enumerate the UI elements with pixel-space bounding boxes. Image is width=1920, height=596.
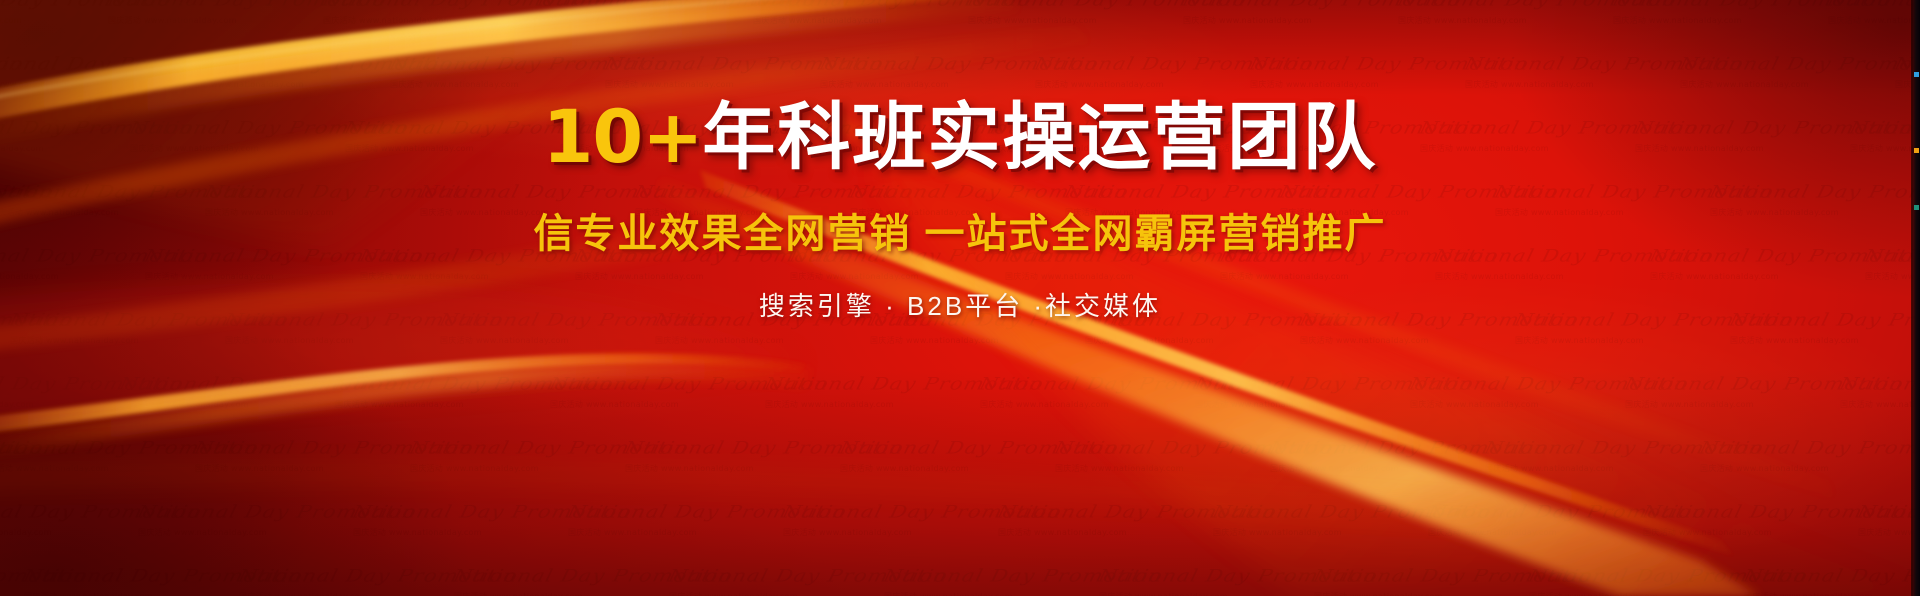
subtitle-secondary: 搜索引擎 · B2B平台 ·社交媒体 xyxy=(759,286,1161,323)
headline: 10+年科班实操运营团队 xyxy=(543,101,1378,174)
headline-text: 年科班实操运营团队 xyxy=(702,97,1377,178)
banner-content: 10+年科班实操运营团队 信专业效果全网营销 一站式全网霸屏营销推广 搜索引擎 … xyxy=(0,0,1920,596)
subtitle-primary: 信专业效果全网营销 一站式全网霸屏营销推广 xyxy=(533,201,1386,259)
edge-dot-teal xyxy=(1914,205,1919,210)
promo-banner: National Day Promotion国庆活动 www.nationald… xyxy=(0,0,1920,596)
edge-divider xyxy=(1911,0,1913,596)
edge-dot-blue xyxy=(1914,72,1919,77)
headline-number: 10+ xyxy=(543,95,703,180)
edge-dot-orange xyxy=(1914,148,1919,153)
right-edge-strip xyxy=(1911,0,1920,596)
